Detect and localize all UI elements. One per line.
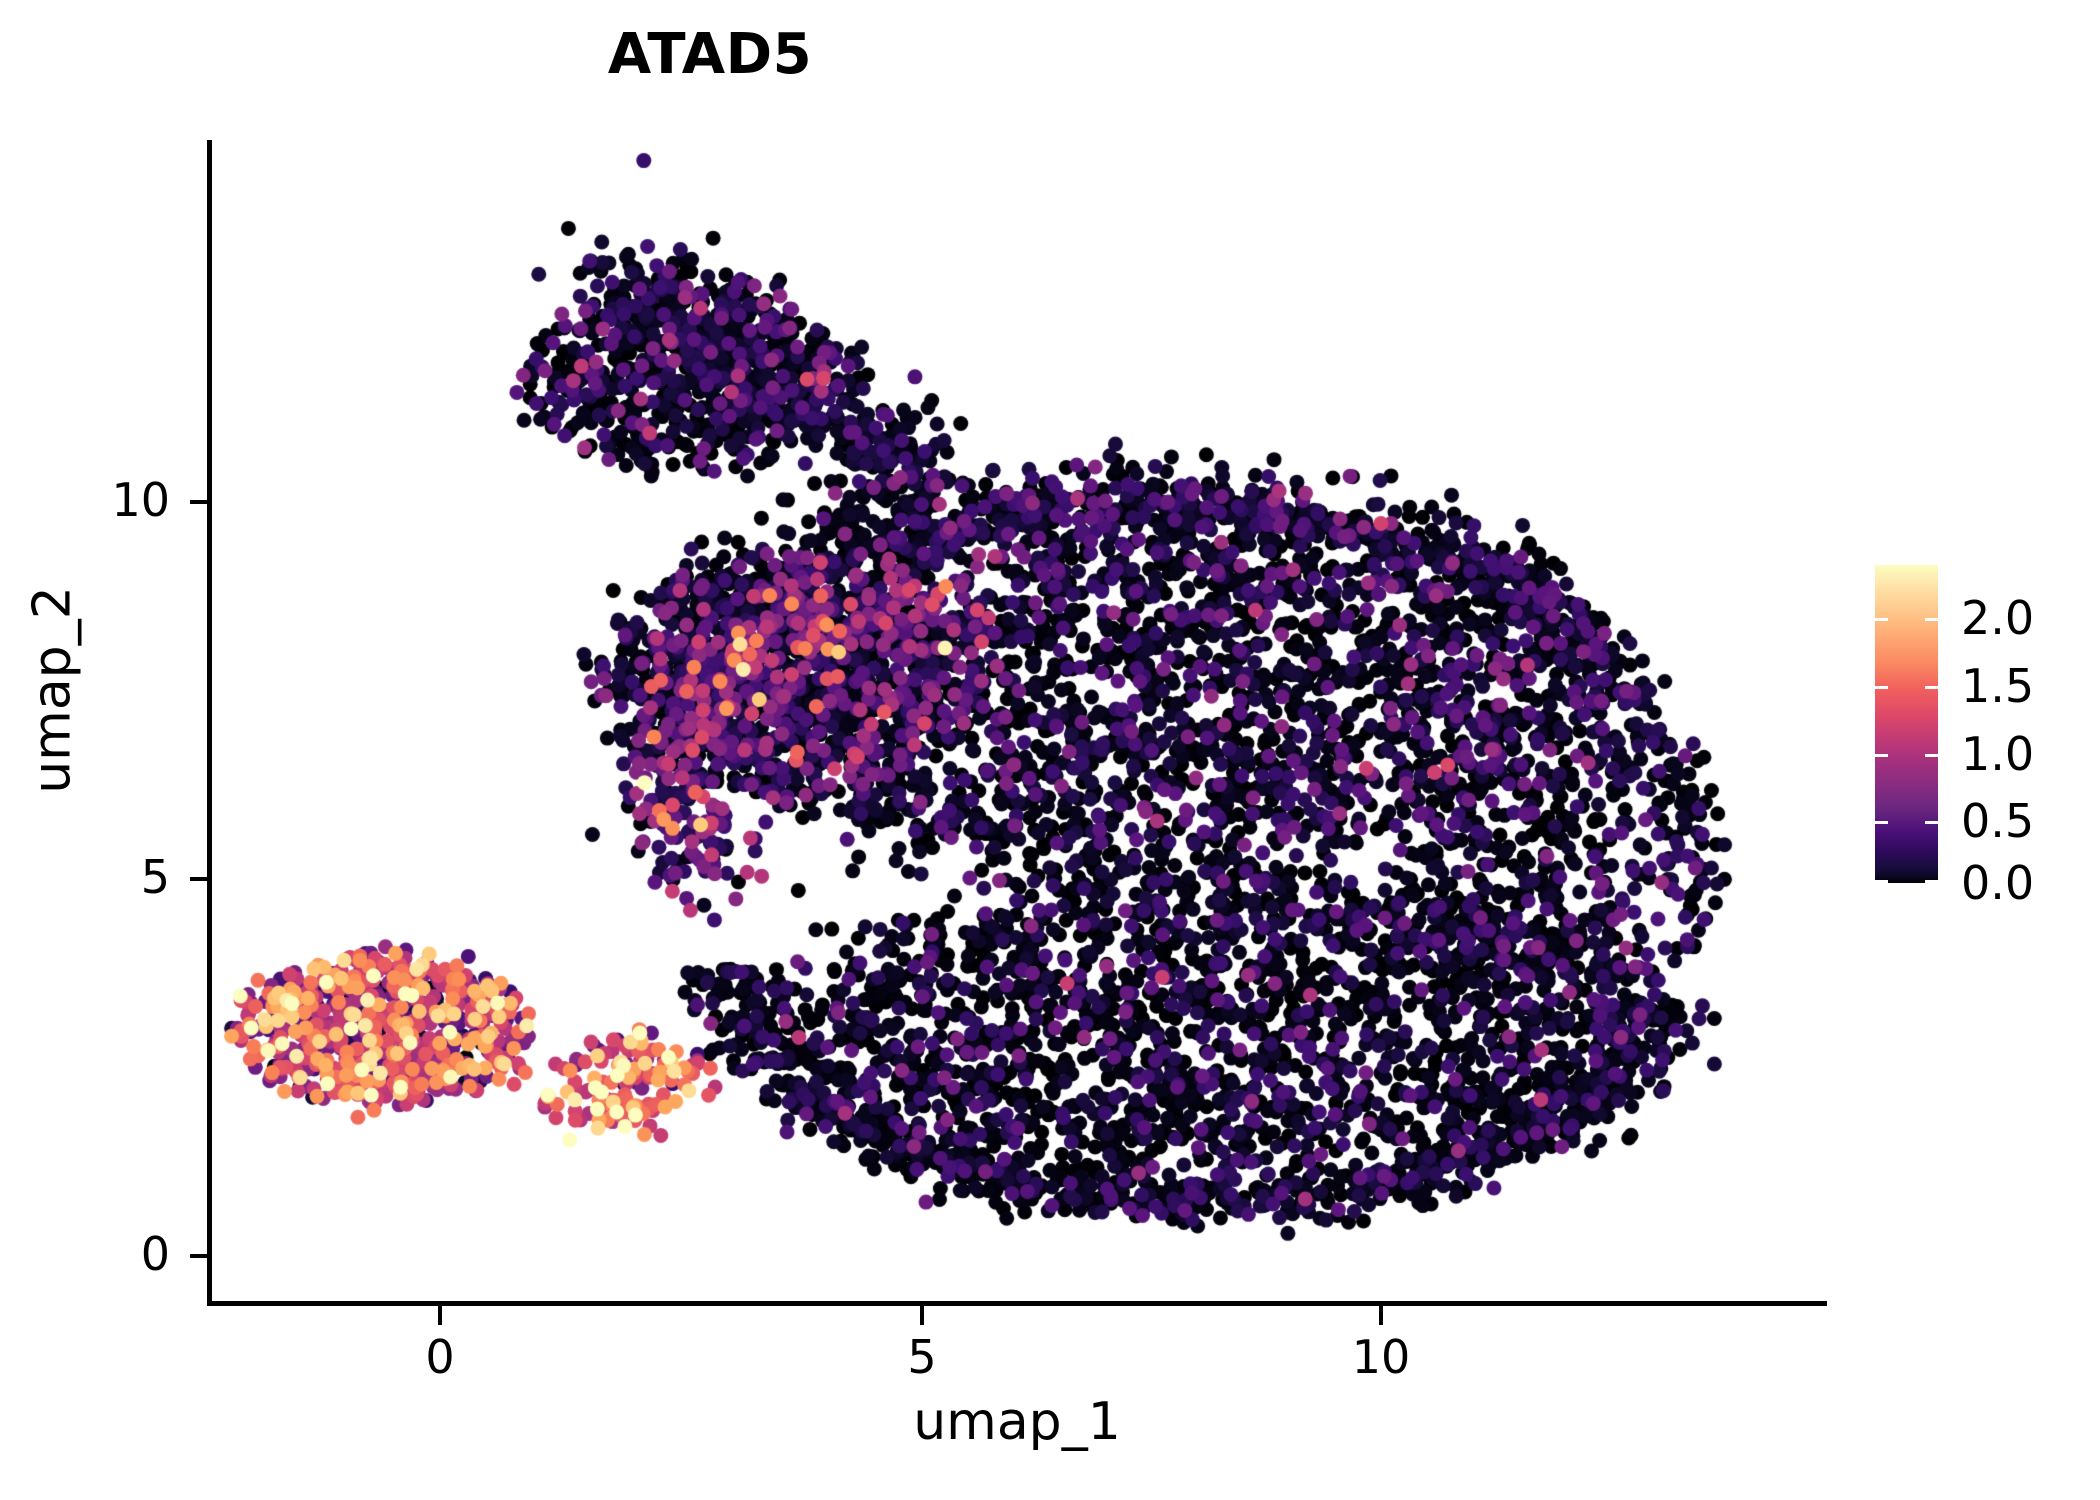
x-axis-label: umap_1 xyxy=(207,1392,1827,1452)
colorbar-label-1.0: 1.0 xyxy=(1961,727,2100,781)
y-axis-spine xyxy=(207,140,212,1305)
y-tick-0 xyxy=(190,1254,208,1258)
scatter-points-canvas xyxy=(0,0,2100,1500)
colorbar-tick-0.5-right xyxy=(1925,821,1938,824)
y-tick-10 xyxy=(190,500,208,504)
colorbar-tick-0.0-right xyxy=(1925,880,1938,883)
colorbar-tick-0.5-left xyxy=(1875,821,1888,824)
y-axis-label: umap_2 xyxy=(23,108,83,1273)
colorbar-gradient xyxy=(1875,565,1938,883)
x-axis-spine xyxy=(207,1301,1827,1306)
y-tick-5 xyxy=(190,877,208,881)
colorbar-label-1.5: 1.5 xyxy=(1961,659,2100,713)
colorbar-tick-1.0-left xyxy=(1875,754,1888,757)
x-ticklabel-0: 0 xyxy=(360,1330,520,1384)
x-tick-10 xyxy=(1379,1306,1383,1325)
colorbar-tick-2.0-right xyxy=(1925,618,1938,621)
colorbar-label-2.0: 2.0 xyxy=(1961,591,2100,645)
x-tick-5 xyxy=(920,1306,924,1325)
colorbar-tick-1.0-right xyxy=(1925,754,1938,757)
figure-canvas: ATAD5 10 5 0 0 5 10 umap_1 umap_2 2.0 1.… xyxy=(0,0,2100,1500)
colorbar-tick-0.0-left xyxy=(1875,880,1888,883)
colorbar-tick-1.5-right xyxy=(1925,686,1938,689)
colorbar-label-0.5: 0.5 xyxy=(1961,794,2100,848)
x-ticklabel-10: 10 xyxy=(1301,1330,1461,1384)
colorbar-tick-2.0-left xyxy=(1875,618,1888,621)
scatter-plot-area xyxy=(0,0,2100,1500)
x-ticklabel-5: 5 xyxy=(842,1330,1002,1384)
colorbar-tick-1.5-left xyxy=(1875,686,1888,689)
x-tick-0 xyxy=(438,1306,442,1325)
colorbar-label-0.0: 0.0 xyxy=(1961,856,2100,910)
